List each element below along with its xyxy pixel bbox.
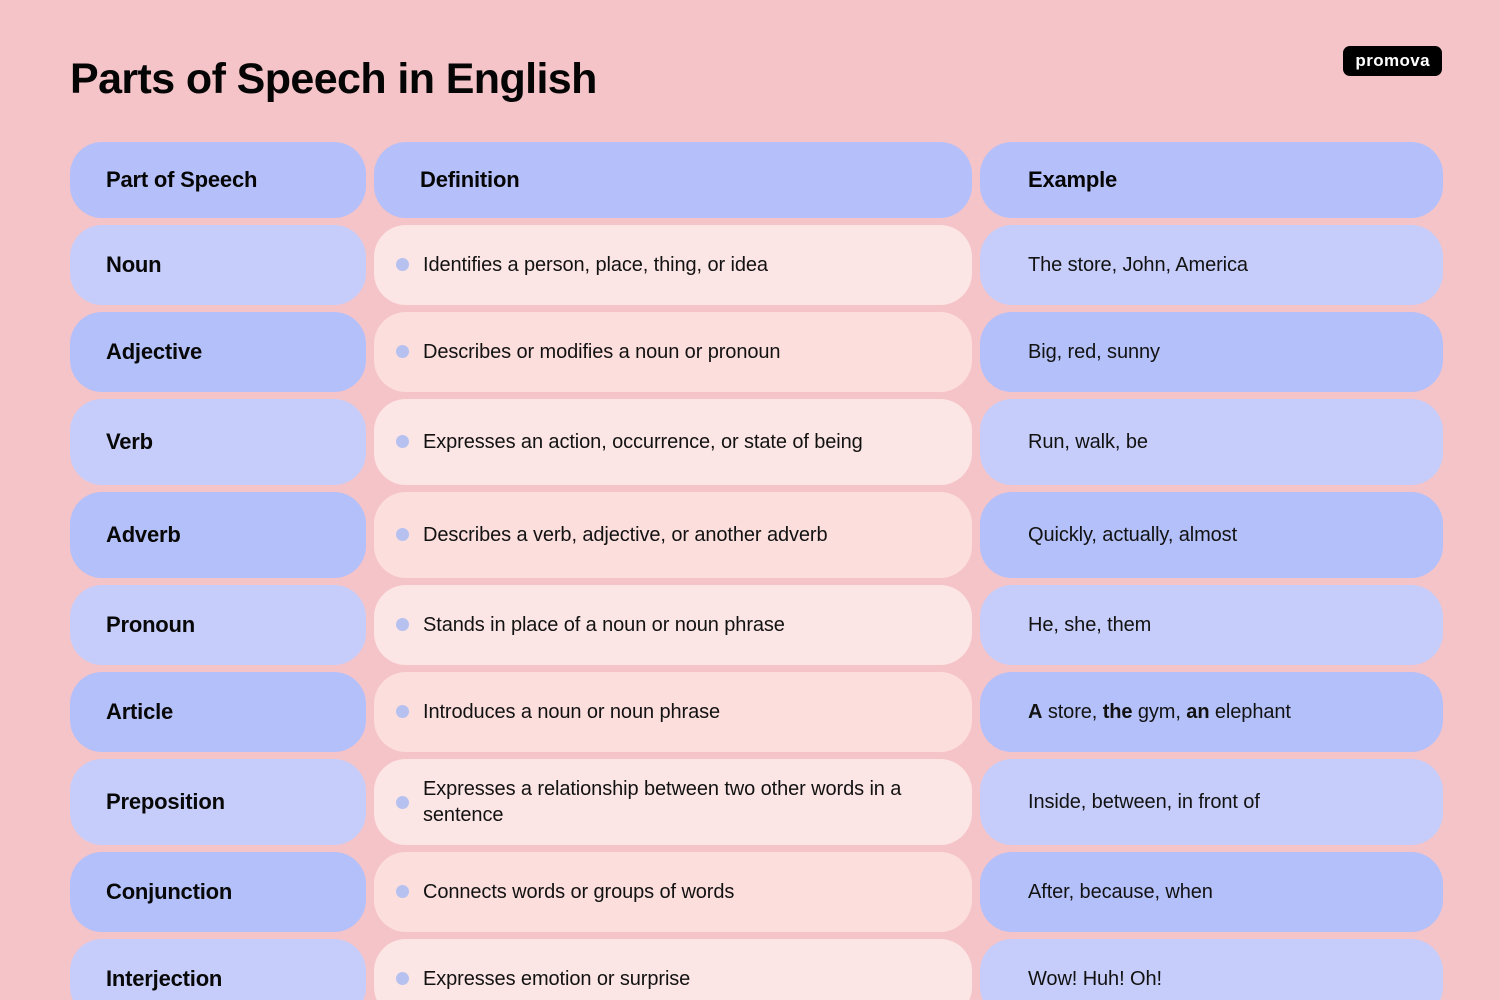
parts-of-speech-table: Part of Speech Definition Example NounId… xyxy=(70,142,1442,1000)
cell-example: The store, John, America xyxy=(980,225,1443,305)
table-row: PrepositionExpresses a relationship betw… xyxy=(70,759,1442,845)
bullet-dot-icon xyxy=(396,972,409,985)
definition-wrapper: Stands in place of a noun or noun phrase xyxy=(374,612,972,638)
column-header-example: Example xyxy=(980,142,1443,218)
table-row: NounIdentifies a person, place, thing, o… xyxy=(70,225,1442,305)
cell-definition: Stands in place of a noun or noun phrase xyxy=(374,585,972,665)
example-text: Big, red, sunny xyxy=(980,339,1184,365)
cell-definition: Expresses emotion or surprise xyxy=(374,939,972,1000)
part-of-speech-label: Noun xyxy=(70,252,175,277)
table-row: ConjunctionConnects words or groups of w… xyxy=(70,852,1442,932)
bullet-dot-icon xyxy=(396,796,409,809)
bullet-dot-icon xyxy=(396,435,409,448)
cell-example: He, she, them xyxy=(980,585,1443,665)
cell-part-of-speech: Adverb xyxy=(70,492,366,578)
cell-definition: Describes or modifies a noun or pronoun xyxy=(374,312,972,392)
definition-text: Describes or modifies a noun or pronoun xyxy=(423,339,780,365)
cell-part-of-speech: Conjunction xyxy=(70,852,366,932)
cell-example: Inside, between, in front of xyxy=(980,759,1443,845)
definition-text: Identifies a person, place, thing, or id… xyxy=(423,252,768,278)
part-of-speech-label: Conjunction xyxy=(70,879,246,904)
cell-example: A store, the gym, an elephant xyxy=(980,672,1443,752)
part-of-speech-label: Pronoun xyxy=(70,612,209,637)
bullet-dot-icon xyxy=(396,618,409,631)
cell-example: After, because, when xyxy=(980,852,1443,932)
definition-wrapper: Introduces a noun or noun phrase xyxy=(374,699,972,725)
table-header-row: Part of Speech Definition Example xyxy=(70,142,1442,218)
cell-example: Quickly, actually, almost xyxy=(980,492,1443,578)
definition-wrapper: Expresses a relationship between two oth… xyxy=(374,776,972,829)
cell-definition: Expresses an action, occurrence, or stat… xyxy=(374,399,972,485)
cell-example: Big, red, sunny xyxy=(980,312,1443,392)
poster-header: Parts of Speech in English promova xyxy=(0,0,1500,140)
definition-wrapper: Identifies a person, place, thing, or id… xyxy=(374,252,972,278)
definition-wrapper: Describes a verb, adjective, or another … xyxy=(374,522,972,548)
example-text: Run, walk, be xyxy=(980,429,1172,455)
definition-wrapper: Expresses an action, occurrence, or stat… xyxy=(374,429,972,455)
definition-text: Expresses an action, occurrence, or stat… xyxy=(423,429,863,455)
cell-part-of-speech: Article xyxy=(70,672,366,752)
table-row: AdjectiveDescribes or modifies a noun or… xyxy=(70,312,1442,392)
bullet-dot-icon xyxy=(396,705,409,718)
example-text: A store, the gym, an elephant xyxy=(980,699,1315,725)
example-text: Quickly, actually, almost xyxy=(980,522,1261,548)
part-of-speech-label: Preposition xyxy=(70,789,239,814)
definition-text: Stands in place of a noun or noun phrase xyxy=(423,612,785,638)
column-header-definition: Definition xyxy=(374,142,972,218)
bullet-dot-icon xyxy=(396,528,409,541)
definition-text: Describes a verb, adjective, or another … xyxy=(423,522,828,548)
definition-text: Expresses emotion or surprise xyxy=(423,966,690,992)
part-of-speech-label: Verb xyxy=(70,429,167,454)
cell-definition: Expresses a relationship between two oth… xyxy=(374,759,972,845)
promova-logo: promova xyxy=(1343,46,1442,76)
part-of-speech-label: Interjection xyxy=(70,966,236,991)
definition-wrapper: Connects words or groups of words xyxy=(374,879,972,905)
column-header-label: Definition xyxy=(374,167,519,193)
table-row: InterjectionExpresses emotion or surpris… xyxy=(70,939,1442,1000)
definition-text: Introduces a noun or noun phrase xyxy=(423,699,720,725)
cell-part-of-speech: Adjective xyxy=(70,312,366,392)
example-text: He, she, them xyxy=(980,612,1175,638)
column-header-label: Part of Speech xyxy=(70,167,257,193)
column-header-part-of-speech: Part of Speech xyxy=(70,142,366,218)
cell-part-of-speech: Verb xyxy=(70,399,366,485)
cell-definition: Describes a verb, adjective, or another … xyxy=(374,492,972,578)
bullet-dot-icon xyxy=(396,885,409,898)
example-text: The store, John, America xyxy=(980,252,1272,278)
bullet-dot-icon xyxy=(396,345,409,358)
example-text: Inside, between, in front of xyxy=(980,789,1284,815)
bullet-dot-icon xyxy=(396,258,409,271)
cell-part-of-speech: Interjection xyxy=(70,939,366,1000)
cell-definition: Connects words or groups of words xyxy=(374,852,972,932)
definition-wrapper: Expresses emotion or surprise xyxy=(374,966,972,992)
example-text: After, because, when xyxy=(980,879,1237,905)
table-body: NounIdentifies a person, place, thing, o… xyxy=(70,225,1442,1000)
cell-example: Run, walk, be xyxy=(980,399,1443,485)
table-row: AdverbDescribes a verb, adjective, or an… xyxy=(70,492,1442,578)
part-of-speech-label: Adverb xyxy=(70,522,195,547)
page-title: Parts of Speech in English xyxy=(70,58,597,101)
definition-text: Expresses a relationship between two oth… xyxy=(423,776,948,829)
cell-part-of-speech: Preposition xyxy=(70,759,366,845)
cell-definition: Identifies a person, place, thing, or id… xyxy=(374,225,972,305)
example-text: Wow! Huh! Oh! xyxy=(980,966,1186,992)
cell-part-of-speech: Noun xyxy=(70,225,366,305)
column-header-label: Example xyxy=(980,167,1117,193)
infographic-poster: Parts of Speech in English promova Part … xyxy=(0,0,1500,1000)
table-row: PronounStands in place of a noun or noun… xyxy=(70,585,1442,665)
cell-example: Wow! Huh! Oh! xyxy=(980,939,1443,1000)
table-row: VerbExpresses an action, occurrence, or … xyxy=(70,399,1442,485)
cell-part-of-speech: Pronoun xyxy=(70,585,366,665)
table-row: ArticleIntroduces a noun or noun phraseA… xyxy=(70,672,1442,752)
part-of-speech-label: Adjective xyxy=(70,339,216,364)
part-of-speech-label: Article xyxy=(70,699,187,724)
definition-wrapper: Describes or modifies a noun or pronoun xyxy=(374,339,972,365)
definition-text: Connects words or groups of words xyxy=(423,879,734,905)
cell-definition: Introduces a noun or noun phrase xyxy=(374,672,972,752)
